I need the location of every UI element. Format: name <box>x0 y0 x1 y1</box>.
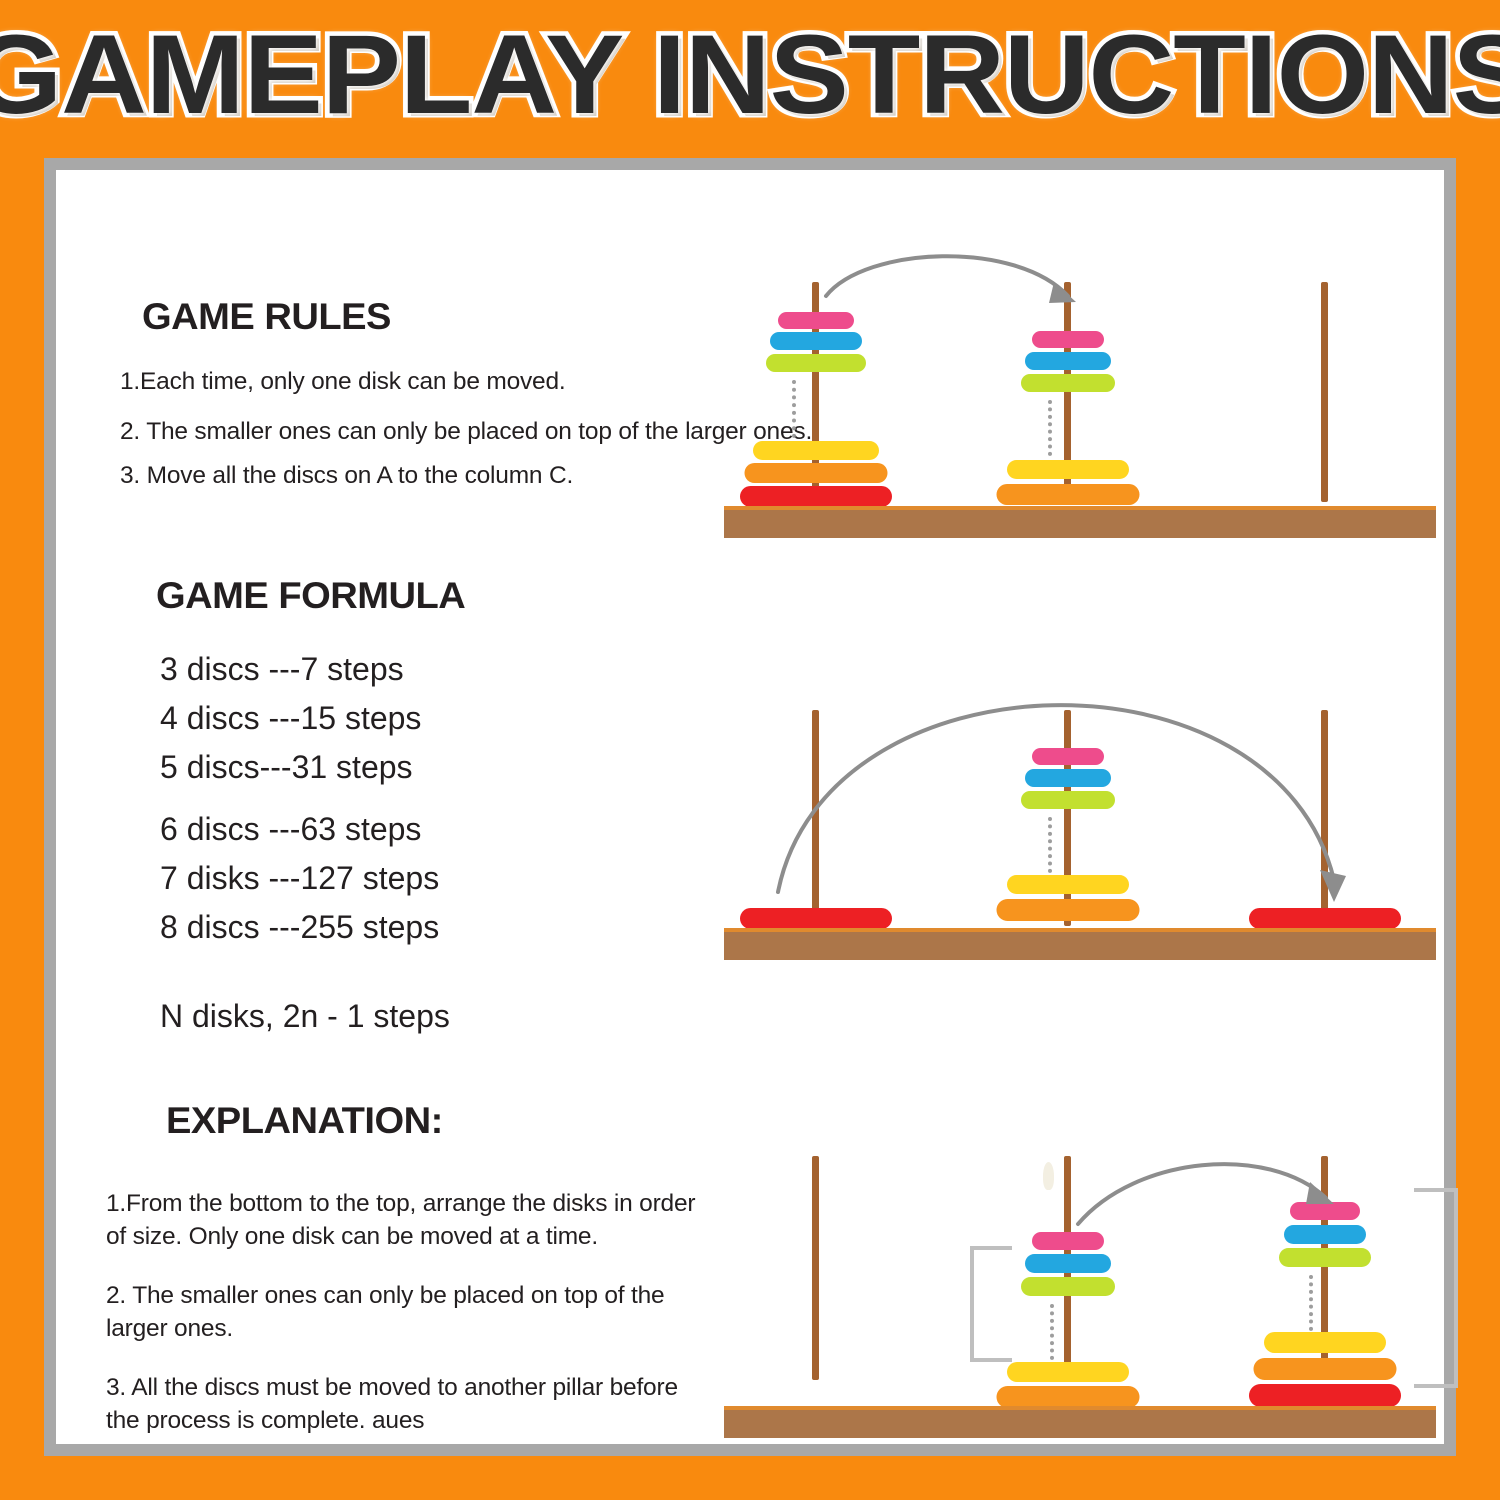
poster-root: GAMEPLAY INSTRUCTIONS GAME RULES 1.Each … <box>0 0 1500 1500</box>
heading-explanation: EXPLANATION: <box>166 1100 443 1142</box>
disc-blue <box>1284 1225 1366 1244</box>
disc-blue <box>1025 1254 1111 1273</box>
disc-red <box>740 908 892 929</box>
diagram-move-b-to-c <box>716 1120 1460 1430</box>
pole-a <box>812 710 819 926</box>
formula-line-8-discs: 8 discs ---255 steps <box>160 909 439 946</box>
disc-yellow <box>1007 1362 1129 1382</box>
pole-c <box>1321 710 1328 926</box>
content-panel: GAME RULES 1.Each time, only one disk ca… <box>56 170 1444 1444</box>
disc-blue <box>1025 769 1111 787</box>
content-frame: GAME RULES 1.Each time, only one disk ca… <box>44 158 1456 1456</box>
disc-orange <box>745 463 888 483</box>
formula-line-3-discs: 3 discs ---7 steps <box>160 651 404 688</box>
base-plank <box>724 928 1436 960</box>
right-bracket-c <box>1414 1188 1458 1388</box>
rule-item-3: 3. Move all the discs on A to the column… <box>120 460 760 493</box>
base-plank <box>724 1406 1436 1438</box>
disc-pink <box>1290 1202 1360 1220</box>
disc-green <box>1021 791 1115 809</box>
formula-line-6-discs: 6 discs ---63 steps <box>160 811 421 848</box>
explanation-item-1: 1.From the bottom to the top, arrange th… <box>106 1188 698 1253</box>
disc-red <box>1249 1384 1401 1407</box>
title-banner: GAMEPLAY INSTRUCTIONS <box>0 0 1500 150</box>
disc-gap-guide <box>792 380 796 438</box>
formula-line-5-discs: 5 discs---31 steps <box>160 749 413 786</box>
disc-red <box>740 486 892 507</box>
explanation-item-3: 3. All the discs must be moved to anothe… <box>106 1372 686 1437</box>
disc-pink <box>1032 331 1104 348</box>
disc-yellow <box>1007 460 1129 479</box>
formula-line-4-discs: 4 discs ---15 steps <box>160 700 421 737</box>
rule-item-2: 2. The smaller ones can only be placed o… <box>120 416 820 449</box>
disc-yellow <box>1007 875 1129 894</box>
disc-gap-guide <box>1048 817 1052 873</box>
formula-line-7-disks: 7 disks ---127 steps <box>160 860 439 897</box>
explanation-item-2: 2. The smaller ones can only be placed o… <box>106 1280 666 1345</box>
base-plank <box>724 506 1436 538</box>
heading-game-formula: GAME FORMULA <box>156 575 465 617</box>
disc-blue <box>1025 352 1111 370</box>
disc-pink <box>778 312 854 329</box>
disc-gap-guide <box>1309 1275 1313 1331</box>
disc-orange <box>997 899 1140 921</box>
pole-c <box>1321 282 1328 502</box>
disc-green <box>1279 1248 1371 1267</box>
heading-game-rules: GAME RULES <box>142 296 391 338</box>
disc-green <box>1021 374 1115 392</box>
disc-orange <box>1254 1358 1397 1380</box>
diagram-move-a-to-b <box>716 248 1460 548</box>
disc-green <box>766 354 866 372</box>
paper-speck <box>1043 1162 1054 1190</box>
rule-item-1: 1.Each time, only one disk can be moved. <box>120 366 760 399</box>
disc-yellow <box>1264 1332 1386 1353</box>
disc-orange <box>997 1386 1140 1408</box>
disc-green <box>1021 1277 1115 1296</box>
disc-red <box>1249 908 1401 929</box>
pole-a <box>812 1156 819 1380</box>
disc-yellow <box>753 441 879 460</box>
disc-blue <box>770 332 862 350</box>
page-title: GAMEPLAY INSTRUCTIONS <box>0 19 1500 131</box>
disc-orange <box>997 484 1140 505</box>
diagram-move-a-to-c <box>716 670 1460 970</box>
formula-line-n-disks: N disks, 2n - 1 steps <box>160 998 450 1035</box>
disc-gap-guide <box>1050 1304 1054 1360</box>
left-bracket-b <box>970 1246 1012 1362</box>
disc-pink <box>1032 748 1104 765</box>
disc-gap-guide <box>1048 400 1052 456</box>
disc-pink <box>1032 1232 1104 1250</box>
